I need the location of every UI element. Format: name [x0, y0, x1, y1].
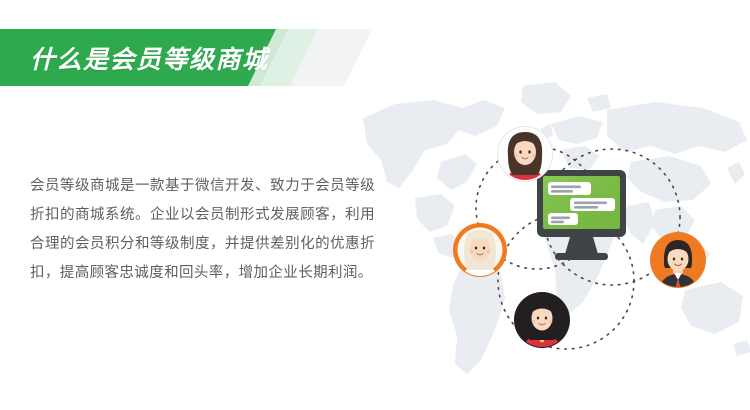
- description-block: 会员等级商城是一款基于微信开发、致力于会员等级折扣的商城系统。企业以会员制形式发…: [30, 172, 375, 288]
- avatar-bottom-woman: [514, 292, 570, 350]
- description-text: 会员等级商城是一款基于微信开发、致力于会员等级折扣的商城系统。企业以会员制形式发…: [30, 172, 375, 288]
- slide-canvas: 什么是会员等级商城 会员等级商城是一款基于微信开发、致力于会员等级折扣的商城系统…: [0, 0, 750, 410]
- chat-bubble-3: [548, 213, 578, 225]
- avatar-right-man: [650, 232, 706, 290]
- members-network-illustration: [430, 112, 720, 372]
- avatar-left-woman: [453, 223, 507, 278]
- page-title: 什么是会员等级商城: [30, 29, 269, 86]
- avatar-top-woman: [498, 127, 553, 183]
- chat-bubble-2: [570, 198, 615, 211]
- chat-bubble-1: [548, 182, 591, 195]
